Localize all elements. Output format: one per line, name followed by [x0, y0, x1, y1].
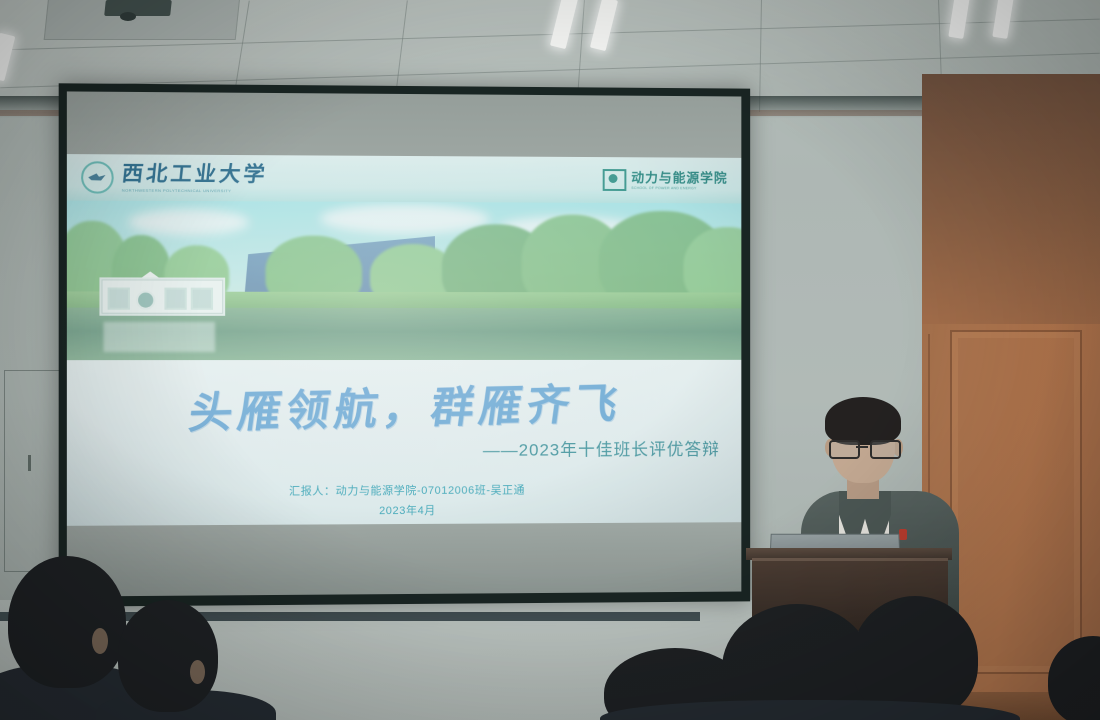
slide-presenter-line: 汇报人：动力与能源学院-07012006班-吴正通	[67, 481, 741, 500]
department-logo-icon	[603, 169, 627, 191]
audience-head	[8, 556, 126, 688]
department-name-cn: 动力与能源学院	[631, 171, 727, 184]
projection-screen: 西北工业大学 NORTHWESTERN POLYTECHNICAL UNIVER…	[59, 83, 750, 606]
presenter-hair	[825, 397, 901, 445]
department-brand: 动力与能源学院 SCHOOL OF POWER AND ENERGY	[603, 169, 728, 191]
slide-date-line: 2023年4月	[67, 500, 741, 519]
wood-wall-upper	[922, 74, 1100, 324]
audience-ear	[190, 660, 205, 684]
slide-title-block: 头雁领航，群雁齐飞 ——2023年十佳班长评优答辩 汇报人：动力与能源学院-07…	[67, 360, 741, 526]
projector-lens-icon	[120, 12, 136, 21]
npu-emblem-icon	[81, 161, 114, 193]
screen-letterbox-bottom	[67, 522, 741, 596]
slide-main-title: 头雁领航，群雁齐飞	[67, 367, 741, 444]
presentation-slide: 西北工业大学 NORTHWESTERN POLYTECHNICAL UNIVER…	[67, 154, 741, 526]
screen-letterbox-top	[67, 91, 741, 157]
department-name-en: SCHOOL OF POWER AND ENERGY	[631, 186, 727, 190]
ceiling-light	[550, 0, 578, 49]
wall-panel-handle	[28, 455, 31, 471]
audience-ear	[92, 628, 108, 654]
university-name-cn: 西北工业大学	[121, 163, 269, 185]
ceiling-projector	[104, 0, 172, 16]
ceiling-light	[0, 33, 15, 82]
wood-panel-moulding	[950, 330, 1082, 674]
ceiling-light	[948, 0, 970, 39]
audience-head	[118, 600, 218, 712]
ceiling-light	[992, 0, 1014, 39]
lecture-hall-photo: 西北工业大学 NORTHWESTERN POLYTECHNICAL UNIVER…	[0, 0, 1100, 720]
slide-header: 西北工业大学 NORTHWESTERN POLYTECHNICAL UNIVER…	[67, 154, 741, 203]
ceiling-light	[590, 0, 618, 51]
slide-campus-photo	[67, 201, 741, 361]
slide-subtitle: ——2023年十佳班长评优答辩	[483, 435, 720, 461]
university-name-en: NORTHWESTERN POLYTECHNICAL UNIVERSITY	[122, 187, 268, 193]
glasses-icon	[829, 440, 897, 455]
photo-projection-wash	[67, 201, 741, 361]
presenter-badge	[899, 529, 907, 540]
university-brand: 西北工业大学 NORTHWESTERN POLYTECHNICAL UNIVER…	[81, 161, 267, 194]
screen-surface: 西北工业大学 NORTHWESTERN POLYTECHNICAL UNIVER…	[67, 91, 741, 596]
